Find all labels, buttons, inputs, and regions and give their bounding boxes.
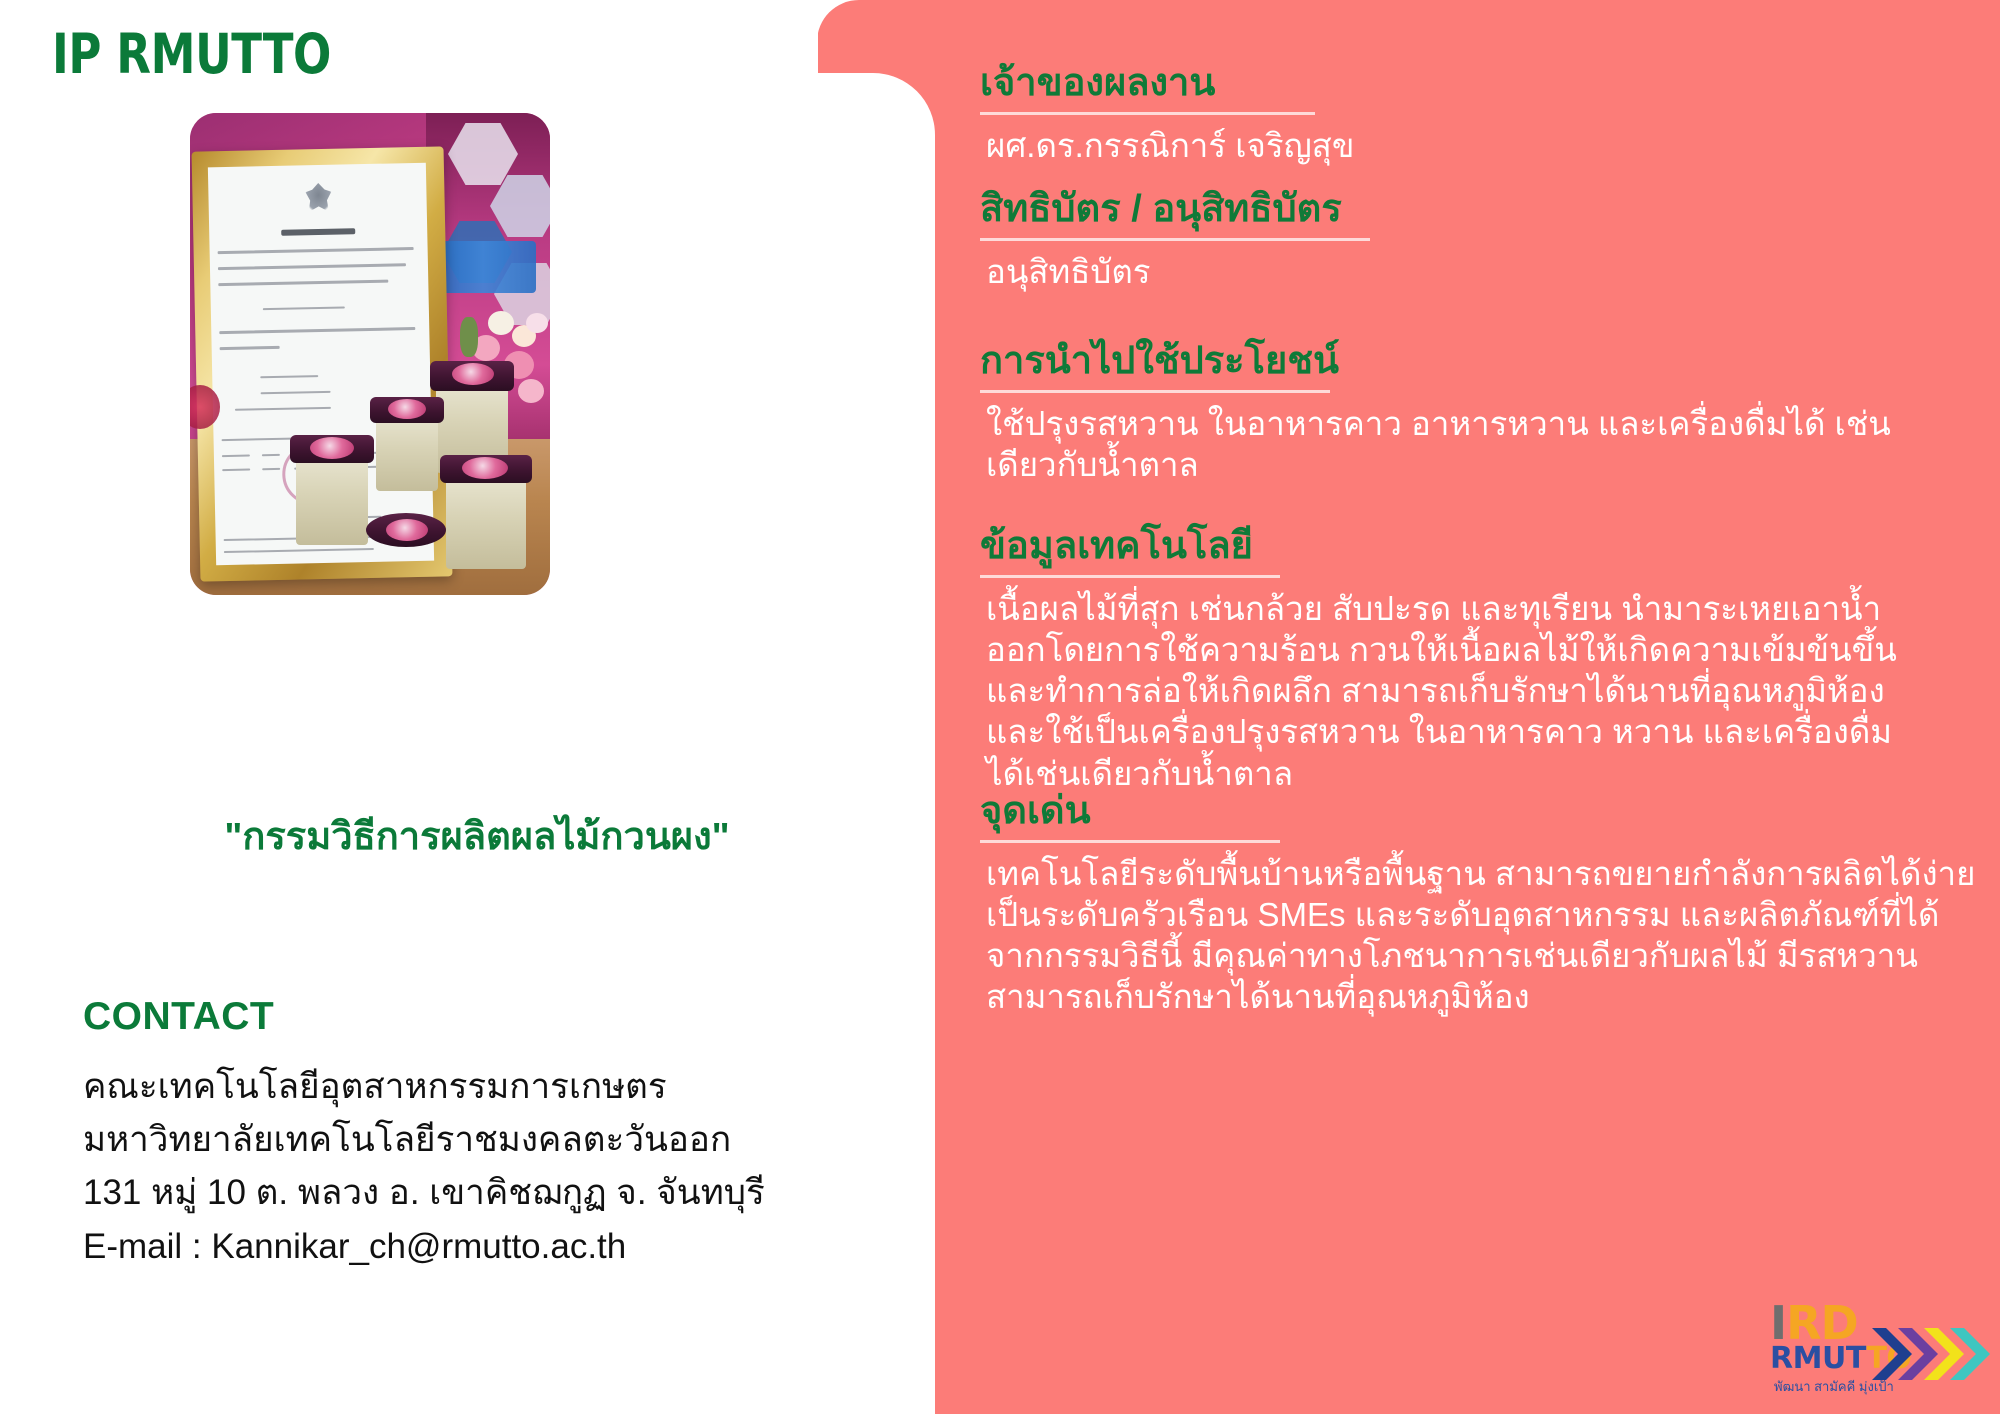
section-patent-type-body: อนุสิทธิบัตร <box>986 251 1915 292</box>
work-title: "กรรมวิธีการผลิตผลไม้กวนผง" <box>52 805 902 866</box>
section-technology: ข้อมูลเทคโนโลยี เนื้อผลไม้ที่สุก เช่นกล้… <box>980 525 1915 794</box>
product-jar-front-label <box>452 363 494 385</box>
page-title: IP RMUTTO <box>52 22 331 86</box>
contact-line-university: มหาวิทยาลัยเทคโนโลยีราชมงคลตะวันออก <box>83 1113 883 1166</box>
photo-certificate-headline <box>281 228 355 236</box>
product-jar-right-label <box>462 457 508 479</box>
product-jar-bottom-label <box>386 519 428 541</box>
section-utilization-body: ใช้ปรุงรสหวาน ในอาหารคาว อาหารหวาน และเค… <box>986 403 1891 486</box>
section-technology-rule <box>980 575 1280 578</box>
section-patent-type-rule <box>980 238 1370 241</box>
section-owner-heading: เจ้าของผลงาน <box>980 62 1915 106</box>
contact-line-address: 131 หมู่ 10 ต. พลวง อ. เขาคิชฌกูฏ จ. จัน… <box>83 1166 883 1219</box>
right-column: เจ้าของผลงาน ผศ.ดร.กรรณิการ์ เจริญสุข สิ… <box>980 0 2000 1414</box>
photo-people-blue-shirts <box>440 241 536 293</box>
section-highlights: จุดเด่น เทคโนโลยีระดับพื้นบ้านหรือพื้นฐา… <box>980 790 1915 1018</box>
section-highlights-body: เทคโนโลยีระดับพื้นบ้านหรือพื้นฐาน สามารถ… <box>986 853 1986 1018</box>
product-jar-mid-label <box>388 399 426 419</box>
product-jar-mid-body <box>376 413 438 491</box>
left-column: IP RMUTTO <box>0 0 935 1414</box>
product-jar-left-label <box>310 437 354 459</box>
certificate-photo <box>190 113 550 595</box>
section-owner-body: ผศ.ดร.กรรณิการ์ เจริญสุข <box>986 125 1915 166</box>
contact-heading: CONTACT <box>83 995 274 1039</box>
section-owner: เจ้าของผลงาน ผศ.ดร.กรรณิการ์ เจริญสุข <box>980 62 1915 166</box>
section-technology-body: เนื้อผลไม้ที่สุก เช่นกล้วย สับปะรด และทุ… <box>986 588 1921 794</box>
photo-garuda-emblem <box>304 183 333 214</box>
section-utilization-heading: การนำไปใช้ประโยชน์ <box>980 340 1915 384</box>
product-jar-left-body <box>296 453 368 545</box>
section-patent-type: สิทธิบัตร / อนุสิทธิบัตร อนุสิทธิบัตร <box>980 188 1915 292</box>
product-jar-right-body <box>446 473 526 569</box>
section-highlights-heading: จุดเด่น <box>980 790 1915 834</box>
contact-line-email[interactable]: E-mail : Kannikar_ch@rmutto.ac.th <box>83 1220 883 1273</box>
section-technology-heading: ข้อมูลเทคโนโลยี <box>980 525 1915 569</box>
section-utilization-rule <box>980 390 1330 393</box>
section-utilization: การนำไปใช้ประโยชน์ ใช้ปรุงรสหวาน ในอาหาร… <box>980 340 1915 485</box>
section-patent-type-heading: สิทธิบัตร / อนุสิทธิบัตร <box>980 188 1915 232</box>
contact-line-faculty: คณะเทคโนโลยีอุตสาหกรรมการเกษตร <box>83 1060 883 1113</box>
logo-rmutto-rmut: RMUT <box>1770 1341 1866 1376</box>
ird-rmutto-logo: IRD RMUTTO พัฒนา สามัคคี มุ่งเป้า <box>1760 1300 1970 1398</box>
section-highlights-rule <box>980 840 1280 843</box>
chevron-icon-4 <box>1950 1328 1990 1380</box>
logo-ird-text: IRD <box>1770 1300 1858 1346</box>
section-owner-rule <box>980 112 1315 115</box>
contact-details: คณะเทคโนโลยีอุตสาหกรรมการเกษตร มหาวิทยาล… <box>83 1060 883 1273</box>
